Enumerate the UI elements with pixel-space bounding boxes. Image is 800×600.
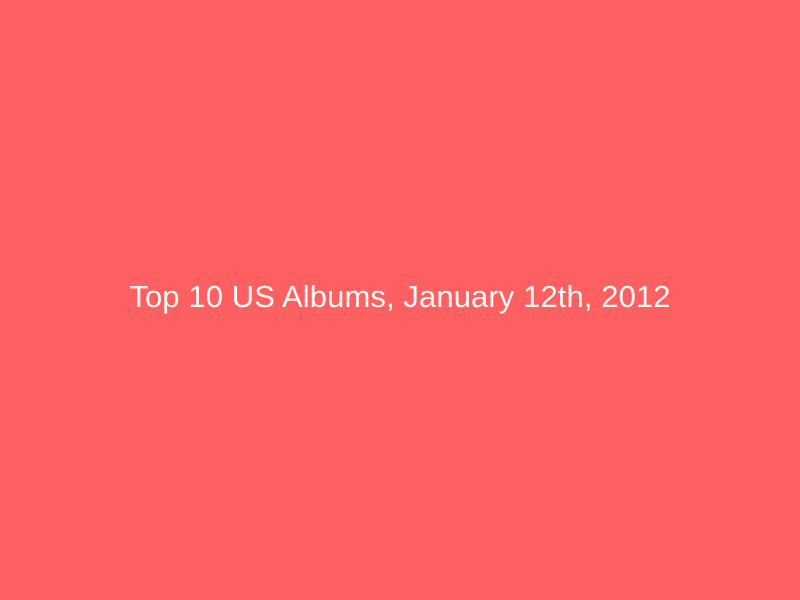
title-block: Top 10 US Albums, January 12th, 2012 — [0, 0, 800, 594]
slide-canvas: Top 10 US Albums, January 12th, 2012 — [0, 0, 800, 600]
page-title: Top 10 US Albums, January 12th, 2012 — [129, 279, 670, 315]
